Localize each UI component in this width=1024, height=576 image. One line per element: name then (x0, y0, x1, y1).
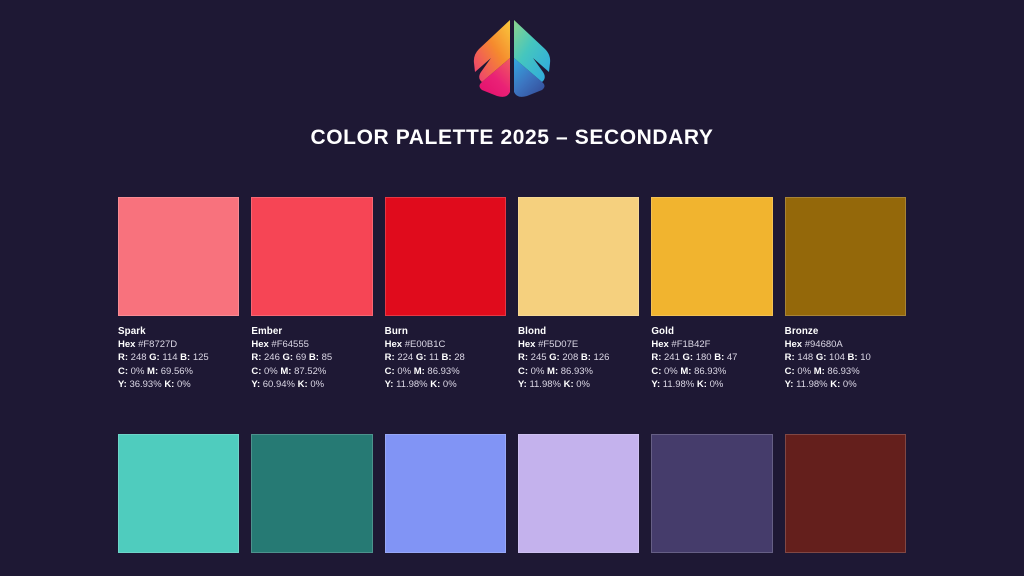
color-cm-line: C: 0% M: 87.52% (251, 365, 372, 378)
color-cm-line: C: 0% M: 86.93% (518, 365, 639, 378)
y-key: Y: (518, 379, 527, 390)
color-info: Ember Hex #F64555 R: 246 G: 69 B: 85 C: … (251, 325, 372, 391)
color-swatch[interactable] (385, 434, 506, 553)
b-value: 85 (322, 352, 333, 363)
color-swatch[interactable] (251, 197, 372, 316)
c-value: 0% (664, 366, 678, 377)
palette-cell (385, 434, 506, 553)
c-value: 0% (797, 366, 811, 377)
palette-cell: Spark Hex #F8727D R: 248 G: 114 B: 125 C… (118, 197, 239, 391)
m-value: 86.93% (427, 366, 459, 377)
color-swatch[interactable] (651, 197, 772, 316)
color-swatch[interactable] (385, 197, 506, 316)
b-value: 126 (594, 352, 610, 363)
hex-key: Hex (118, 339, 135, 350)
b-value: 28 (454, 352, 465, 363)
color-swatch[interactable] (118, 434, 239, 553)
c-key: C: (251, 366, 261, 377)
c-value: 0% (531, 366, 545, 377)
color-rgb-line: R: 246 G: 69 B: 85 (251, 351, 372, 364)
m-key: M: (147, 366, 158, 377)
g-key: G: (283, 352, 294, 363)
palette-cell (651, 434, 772, 553)
color-yk-line: Y: 11.98% K: 0% (518, 378, 639, 391)
r-key: R: (118, 352, 128, 363)
m-key: M: (814, 366, 825, 377)
palette-cell: Blond Hex #F5D07E R: 245 G: 208 B: 126 C… (518, 197, 639, 391)
m-key: M: (414, 366, 425, 377)
k-key: K: (164, 379, 174, 390)
color-swatch[interactable] (651, 434, 772, 553)
r-value: 224 (397, 352, 413, 363)
r-key: R: (251, 352, 261, 363)
c-key: C: (785, 366, 795, 377)
g-key: G: (549, 352, 560, 363)
hex-key: Hex (518, 339, 535, 350)
hex-value: #F1B42F (671, 339, 710, 350)
b-key: B: (848, 352, 858, 363)
m-value: 87.52% (294, 366, 326, 377)
palette-cell: Burn Hex #E00B1C R: 224 G: 11 B: 28 C: 0… (385, 197, 506, 391)
color-swatch[interactable] (518, 434, 639, 553)
color-info: Bronze Hex #94680A R: 148 G: 104 B: 10 C… (785, 325, 906, 391)
b-value: 125 (193, 352, 209, 363)
color-yk-line: Y: 11.98% K: 0% (651, 378, 772, 391)
k-value: 0% (177, 379, 191, 390)
c-value: 0% (397, 366, 411, 377)
m-value: 69.56% (161, 366, 193, 377)
color-name: Ember (251, 325, 372, 338)
g-value: 180 (696, 352, 712, 363)
g-value: 114 (162, 352, 177, 363)
hex-value: #F64555 (271, 339, 309, 350)
color-info: Blond Hex #F5D07E R: 245 G: 208 B: 126 C… (518, 325, 639, 391)
hex-key: Hex (385, 339, 402, 350)
g-value: 104 (829, 352, 845, 363)
color-hex-line: Hex #F64555 (251, 338, 372, 351)
butterfly-logo (457, 16, 567, 100)
g-key: G: (816, 352, 827, 363)
k-key: K: (697, 379, 707, 390)
color-name: Spark (118, 325, 239, 338)
g-key: G: (683, 352, 694, 363)
c-key: C: (518, 366, 528, 377)
palette-cell (785, 434, 906, 553)
color-rgb-line: R: 245 G: 208 B: 126 (518, 351, 639, 364)
y-key: Y: (785, 379, 794, 390)
logo-container (0, 16, 1024, 100)
color-palette-slide: COLOR PALETTE 2025 – SECONDARY Spark Hex… (0, 0, 1024, 576)
r-key: R: (385, 352, 395, 363)
color-yk-line: Y: 36.93% K: 0% (118, 378, 239, 391)
r-key: R: (785, 352, 795, 363)
k-value: 0% (843, 379, 857, 390)
hex-value: #F8727D (138, 339, 177, 350)
k-value: 0% (310, 379, 324, 390)
y-value: 11.98% (796, 379, 828, 390)
b-key: B: (309, 352, 319, 363)
b-key: B: (180, 352, 190, 363)
y-value: 60.94% (263, 379, 295, 390)
color-hex-line: Hex #F5D07E (518, 338, 639, 351)
c-value: 0% (131, 366, 145, 377)
palette-cell (518, 434, 639, 553)
page-title: COLOR PALETTE 2025 – SECONDARY (0, 125, 1024, 151)
m-value: 86.93% (827, 366, 859, 377)
k-key: K: (298, 379, 308, 390)
color-hex-line: Hex #F1B42F (651, 338, 772, 351)
color-cm-line: C: 0% M: 69.56% (118, 365, 239, 378)
c-key: C: (385, 366, 395, 377)
color-rgb-line: R: 224 G: 11 B: 28 (385, 351, 506, 364)
color-name: Bronze (785, 325, 906, 338)
y-value: 36.93% (129, 379, 161, 390)
c-key: C: (118, 366, 128, 377)
m-value: 86.93% (561, 366, 593, 377)
b-value: 10 (860, 352, 871, 363)
palette-row-top: Spark Hex #F8727D R: 248 G: 114 B: 125 C… (118, 197, 906, 391)
y-value: 11.98% (663, 379, 695, 390)
r-value: 245 (531, 352, 547, 363)
r-value: 248 (131, 352, 147, 363)
color-cm-line: C: 0% M: 86.93% (651, 365, 772, 378)
c-key: C: (651, 366, 661, 377)
color-name: Gold (651, 325, 772, 338)
color-info: Gold Hex #F1B42F R: 241 G: 180 B: 47 C: … (651, 325, 772, 391)
c-value: 0% (264, 366, 278, 377)
m-value: 86.93% (694, 366, 726, 377)
b-value: 47 (727, 352, 738, 363)
color-name: Blond (518, 325, 639, 338)
y-key: Y: (385, 379, 394, 390)
m-key: M: (280, 366, 291, 377)
g-value: 69 (296, 352, 307, 363)
b-key: B: (442, 352, 452, 363)
color-hex-line: Hex #F8727D (118, 338, 239, 351)
k-key: K: (430, 379, 440, 390)
hex-key: Hex (251, 339, 268, 350)
color-hex-line: Hex #E00B1C (385, 338, 506, 351)
r-value: 148 (797, 352, 813, 363)
hex-value: #F5D07E (538, 339, 578, 350)
color-yk-line: Y: 60.94% K: 0% (251, 378, 372, 391)
hex-key: Hex (785, 339, 802, 350)
color-yk-line: Y: 11.98% K: 0% (385, 378, 506, 391)
hex-value: #E00B1C (405, 339, 446, 350)
color-yk-line: Y: 11.98% K: 0% (785, 378, 906, 391)
g-value: 11 (429, 352, 439, 363)
color-rgb-line: R: 241 G: 180 B: 47 (651, 351, 772, 364)
palette-cell (251, 434, 372, 553)
palette-row-bottom (118, 434, 906, 553)
hex-key: Hex (651, 339, 668, 350)
m-key: M: (680, 366, 691, 377)
color-swatch[interactable] (518, 197, 639, 316)
color-swatch[interactable] (785, 197, 906, 316)
b-key: B: (581, 352, 591, 363)
color-rgb-line: R: 248 G: 114 B: 125 (118, 351, 239, 364)
r-key: R: (651, 352, 661, 363)
g-value: 208 (562, 352, 578, 363)
y-key: Y: (251, 379, 260, 390)
palette-cell (118, 434, 239, 553)
k-value: 0% (710, 379, 724, 390)
b-key: B: (714, 352, 724, 363)
color-info: Burn Hex #E00B1C R: 224 G: 11 B: 28 C: 0… (385, 325, 506, 391)
k-key: K: (830, 379, 840, 390)
k-key: K: (564, 379, 574, 390)
color-info: Spark Hex #F8727D R: 248 G: 114 B: 125 C… (118, 325, 239, 391)
y-key: Y: (651, 379, 660, 390)
color-swatch[interactable] (785, 434, 906, 553)
color-cm-line: C: 0% M: 86.93% (385, 365, 506, 378)
g-key: G: (416, 352, 427, 363)
color-hex-line: Hex #94680A (785, 338, 906, 351)
m-key: M: (547, 366, 558, 377)
palette-cell: Ember Hex #F64555 R: 246 G: 69 B: 85 C: … (251, 197, 372, 391)
y-value: 11.98% (529, 379, 561, 390)
k-value: 0% (576, 379, 590, 390)
y-value: 11.98% (396, 379, 428, 390)
r-value: 241 (664, 352, 680, 363)
r-key: R: (518, 352, 528, 363)
color-name: Burn (385, 325, 506, 338)
y-key: Y: (118, 379, 127, 390)
color-rgb-line: R: 148 G: 104 B: 10 (785, 351, 906, 364)
palette-cell: Bronze Hex #94680A R: 148 G: 104 B: 10 C… (785, 197, 906, 391)
color-swatch[interactable] (118, 197, 239, 316)
g-key: G: (149, 352, 160, 363)
palette-cell: Gold Hex #F1B42F R: 241 G: 180 B: 47 C: … (651, 197, 772, 391)
k-value: 0% (443, 379, 457, 390)
r-value: 246 (264, 352, 280, 363)
color-cm-line: C: 0% M: 86.93% (785, 365, 906, 378)
hex-value: #94680A (805, 339, 843, 350)
color-swatch[interactable] (251, 434, 372, 553)
